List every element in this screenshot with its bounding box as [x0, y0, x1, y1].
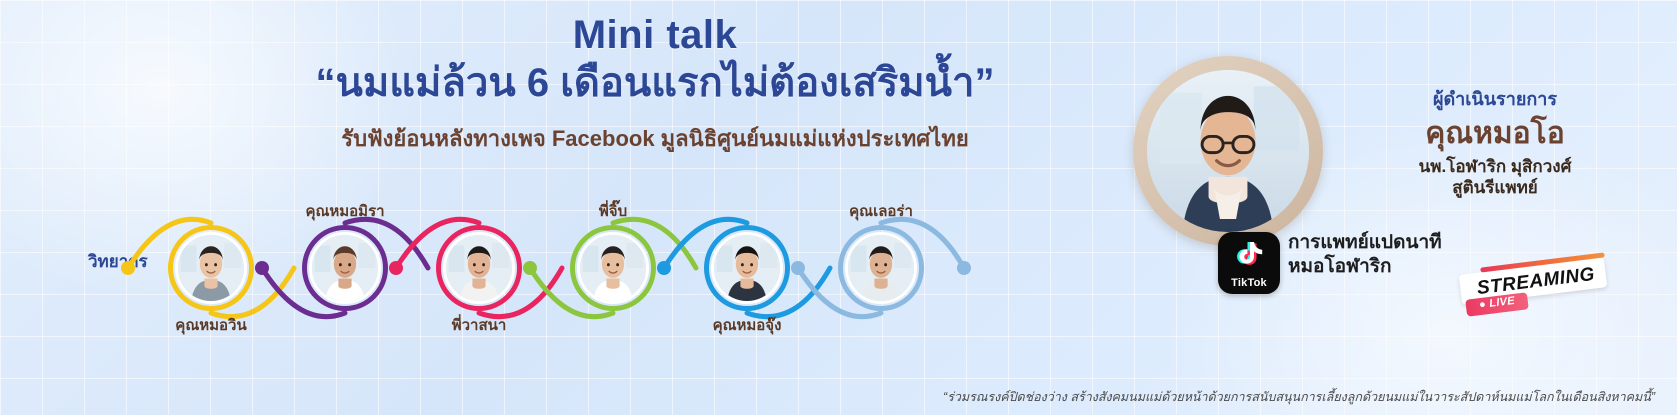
mini-talk-banner: Mini talk “นมแม่ล้วน 6 เดือนแรกไม่ต้องเส…	[0, 0, 1677, 415]
connector-dot-5	[657, 261, 671, 275]
streaming-badge: STREAMING ● LIVE	[1452, 258, 1632, 320]
title-quote: “นมแม่ล้วน 6 เดือนแรกไม่ต้องเสริมน้ำ”	[180, 59, 1130, 107]
speaker-photo	[175, 232, 247, 304]
speaker-avatar-2[interactable]: คุณหมอมิรา	[302, 225, 388, 311]
connector-dot-1	[121, 261, 135, 275]
host-specialty: สูตินรีแพทย์	[1345, 177, 1645, 198]
speaker-avatar-3[interactable]: พี่วาสนา	[436, 225, 522, 311]
host-avatar	[1133, 56, 1323, 246]
channel-line-1: การแพทย์แปดนาที	[1288, 231, 1488, 255]
host-fullname: นพ.โอฬาริก มุสิกวงศ์	[1345, 156, 1645, 177]
speaker-avatar-4[interactable]: พี่จิ๊บ	[570, 225, 656, 311]
speaker-name-2: คุณหมอมิรา	[305, 199, 384, 223]
speaker-photo	[845, 232, 917, 304]
connector-dot-end	[957, 261, 971, 275]
speaker-name-6: คุณเลอร่า	[849, 199, 913, 223]
connector-dot-6	[791, 261, 805, 275]
speaker-avatar-1[interactable]: คุณหมอวิน	[168, 225, 254, 311]
tiktok-icon[interactable]: TikTok	[1218, 232, 1280, 294]
host-info: ผู้ดำเนินรายการ คุณหมอโอ นพ.โอฬาริก มุสิ…	[1345, 84, 1645, 199]
speaker-name-4: พี่จิ๊บ	[599, 199, 627, 223]
speaker-photo	[309, 232, 381, 304]
speaker-name-3: พี่วาสนา	[452, 313, 507, 337]
connector-dot-4	[523, 261, 537, 275]
connector-dot-3	[389, 261, 403, 275]
subtitle: รับฟังย้อนหลังทางเพจ Facebook มูลนิธิศูน…	[180, 121, 1130, 156]
host-avatar-photo	[1147, 70, 1309, 232]
title-block: Mini talk “นมแม่ล้วน 6 เดือนแรกไม่ต้องเส…	[180, 14, 1130, 156]
speaker-avatar-5[interactable]: คุณหมอจุ๊ง	[704, 225, 790, 311]
speaker-photo	[711, 232, 783, 304]
page-title: Mini talk	[180, 14, 1130, 57]
host-role: ผู้ดำเนินรายการ	[1345, 84, 1645, 113]
speaker-name-1: คุณหมอวิน	[175, 313, 246, 337]
footer-note: “ร่วมรณรงค์ปิดช่องว่าง สร้างสังคมนมแม่ด้…	[943, 387, 1655, 407]
connector-dot-2	[255, 261, 269, 275]
speaker-name-5: คุณหมอจุ๊ง	[713, 313, 782, 337]
host-nickname: คุณหมอโอ	[1345, 117, 1645, 150]
tiktok-note-glyph	[1218, 238, 1280, 276]
speaker-photo	[577, 232, 649, 304]
speaker-avatar-6[interactable]: คุณเลอร่า	[838, 225, 924, 311]
speaker-photo	[443, 232, 515, 304]
speakers-section: วิทยากร คุณหมอวินคุณหมอมิราพี่วาสนาพี่จิ…	[0, 180, 1030, 355]
tiktok-label: TikTok	[1218, 277, 1280, 289]
